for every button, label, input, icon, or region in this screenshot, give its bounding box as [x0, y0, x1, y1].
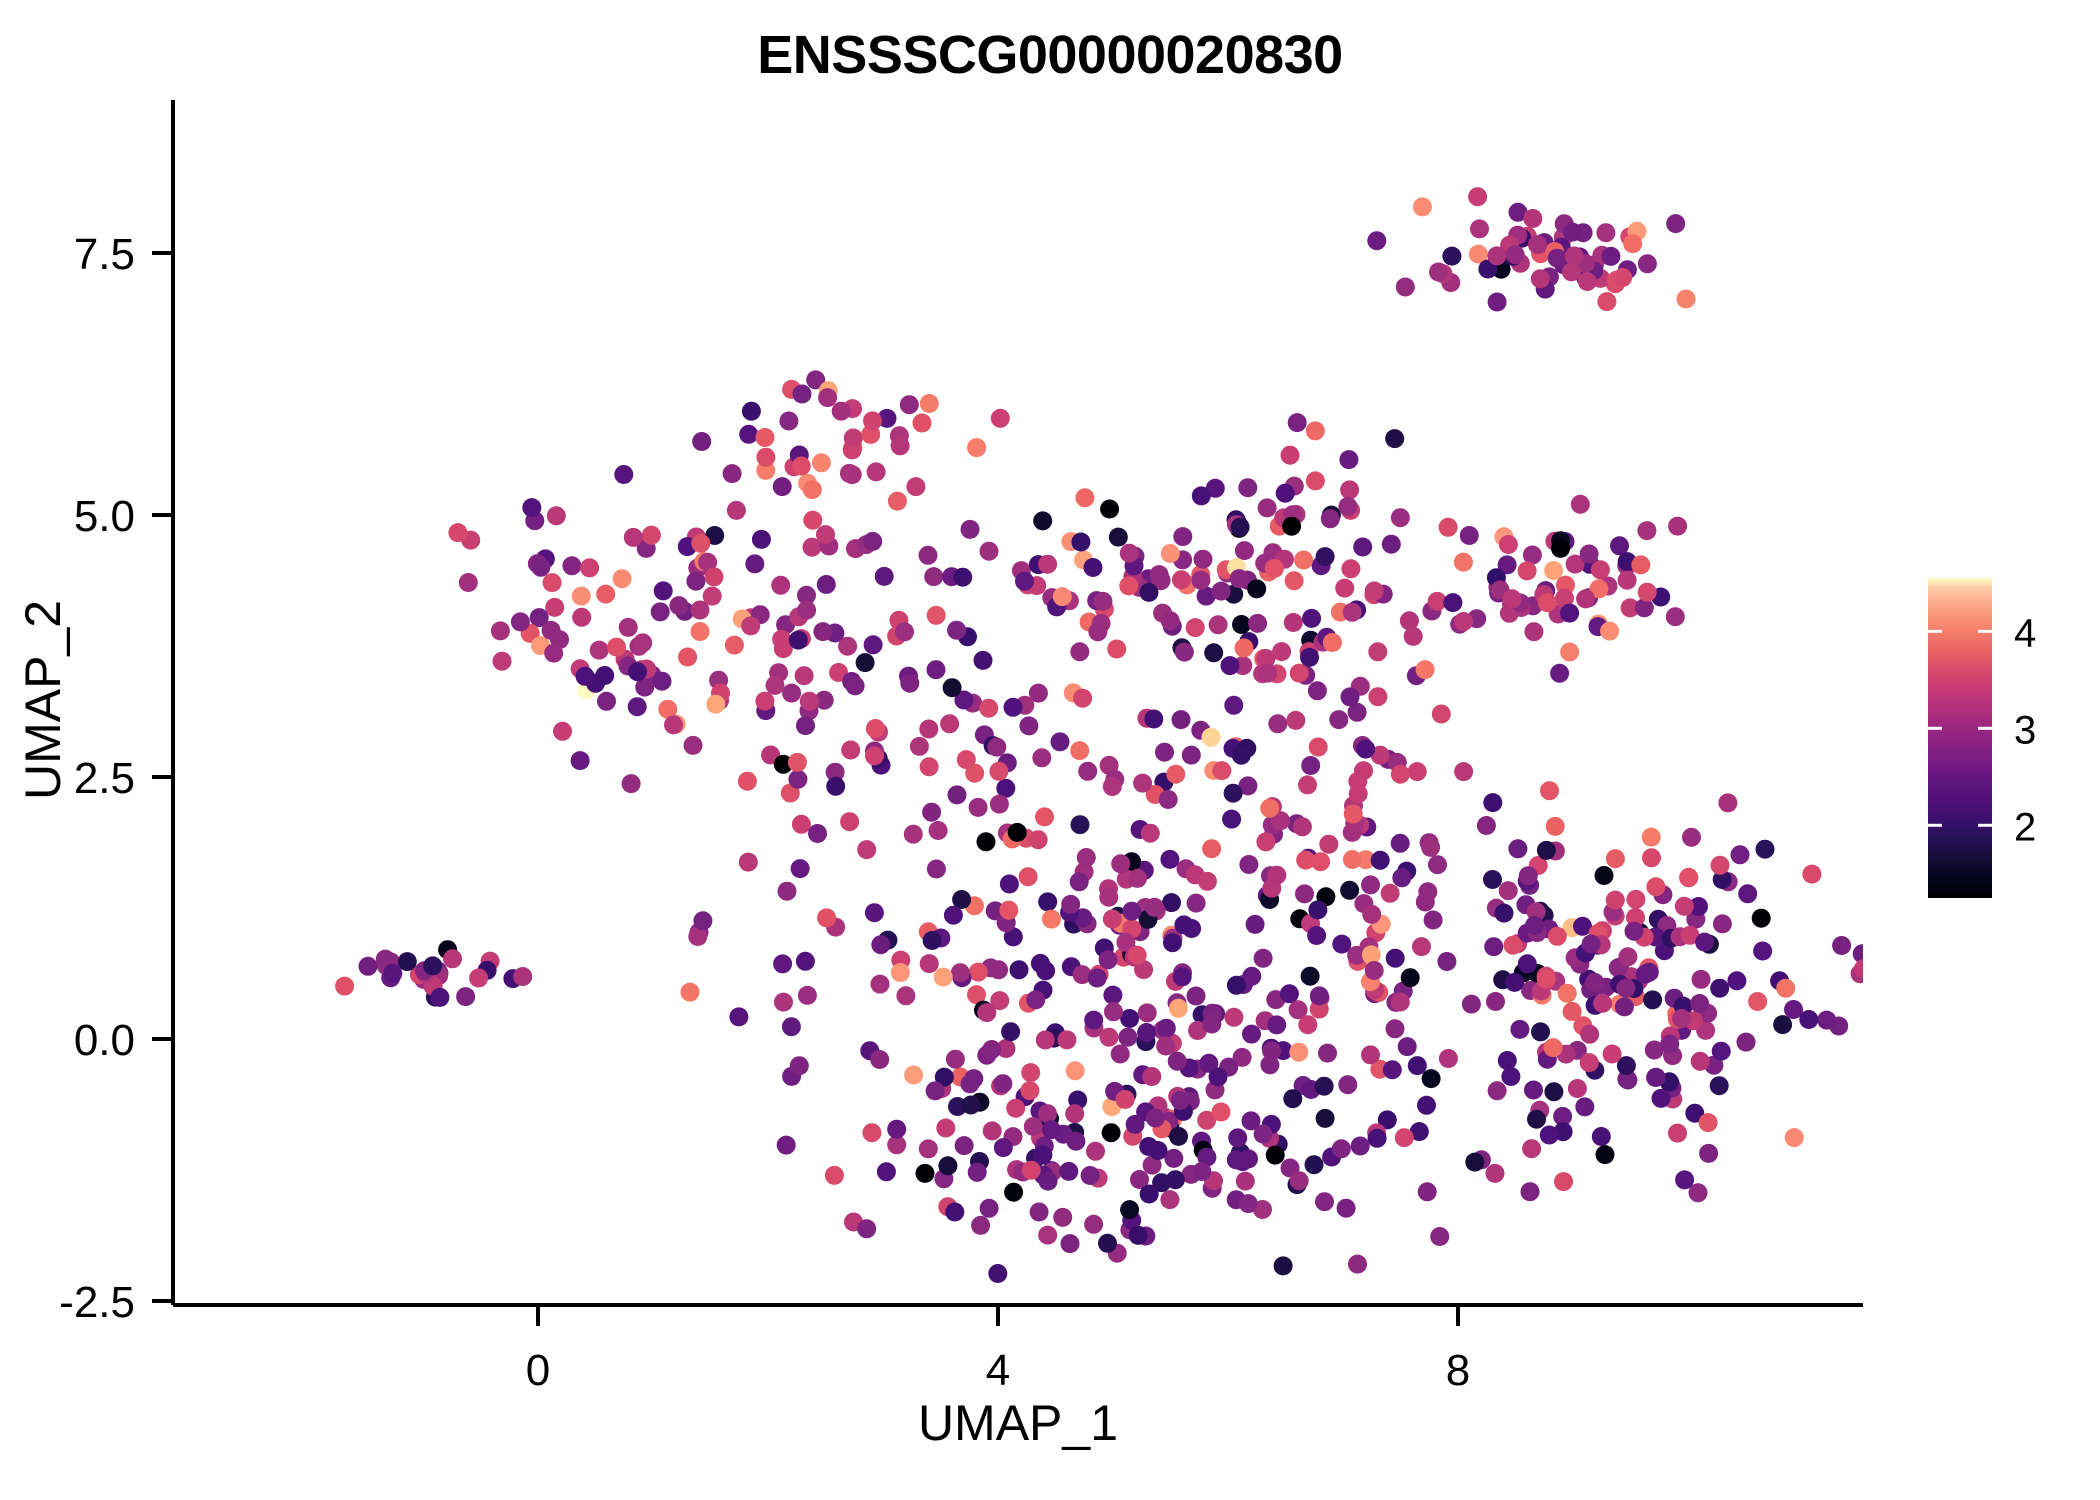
scatter-point — [803, 480, 822, 499]
scatter-point — [789, 631, 808, 650]
scatter-point — [826, 777, 845, 796]
scatter-point — [1615, 997, 1634, 1016]
scatter-point — [1332, 935, 1351, 954]
scatter-point — [1311, 852, 1330, 871]
scatter-point — [797, 601, 816, 620]
scatter-point — [692, 432, 711, 451]
scatter-point — [1519, 866, 1538, 885]
scatter-point — [1580, 1025, 1599, 1044]
scatter-point — [1580, 545, 1599, 564]
scatter-point — [513, 967, 532, 986]
scatter-point — [1099, 888, 1118, 907]
scatter-point — [969, 798, 988, 817]
scatter-point — [739, 853, 758, 872]
scatter-point — [1306, 421, 1325, 440]
scatter-point — [1022, 1161, 1041, 1180]
scatter-point — [1408, 1056, 1427, 1075]
scatter-point — [1544, 1038, 1563, 1057]
scatter-point — [705, 567, 724, 586]
scatter-point — [957, 750, 976, 769]
scatter-point — [895, 622, 914, 641]
scatter-point — [1266, 1146, 1285, 1165]
x-tick-label: 8 — [1446, 1346, 1470, 1395]
scatter-point — [1361, 875, 1380, 894]
scatter-point — [1618, 571, 1637, 590]
scatter-point — [920, 757, 939, 776]
scatter-point — [771, 576, 790, 595]
scatter-point — [1070, 741, 1089, 760]
scatter-point — [1006, 1099, 1025, 1118]
scatter-point — [1163, 933, 1182, 952]
scatter-point — [1538, 593, 1557, 612]
scatter-point — [1439, 518, 1458, 537]
scatter-point — [1088, 969, 1107, 988]
scatter-point — [1024, 1117, 1043, 1136]
scatter-point — [1544, 561, 1563, 580]
scatter-point — [951, 963, 970, 982]
scatter-point — [1161, 611, 1180, 630]
scatter-point — [1235, 541, 1254, 560]
scatter-point — [1643, 990, 1662, 1009]
colorbar-tick-label: 3 — [2014, 708, 2036, 752]
scatter-point — [511, 612, 530, 631]
scatter-point — [1571, 495, 1590, 514]
scatter-point — [1442, 247, 1461, 266]
colorbar-tick-label: 2 — [2014, 805, 2036, 849]
scatter-point — [1626, 890, 1645, 909]
scatter-point — [1020, 1081, 1039, 1100]
scatter-point — [818, 388, 837, 407]
scatter-point — [1169, 1127, 1188, 1146]
scatter-point — [1510, 1020, 1529, 1039]
scatter-point — [1548, 249, 1567, 268]
scatter-point — [1222, 810, 1241, 829]
scatter-point — [1283, 1089, 1302, 1108]
scatter-point — [742, 402, 761, 421]
scatter-point — [544, 644, 563, 663]
scatter-point — [1596, 223, 1615, 242]
scatter-point — [1120, 1200, 1139, 1219]
scatter-point — [1506, 245, 1525, 264]
scatter-point — [1221, 656, 1240, 675]
scatter-point — [1432, 705, 1451, 724]
scatter-point — [1212, 582, 1231, 601]
scatter-point — [1042, 910, 1061, 929]
scatter-point — [891, 436, 910, 455]
scatter-point — [1107, 640, 1126, 659]
scatter-point — [1776, 979, 1795, 998]
scatter-point — [456, 987, 475, 1006]
scatter-point — [1001, 1022, 1020, 1041]
scatter-point — [1418, 882, 1437, 901]
scatter-point — [808, 824, 827, 843]
colorbar-tick-label: 4 — [2014, 611, 2036, 655]
scatter-point — [1036, 961, 1055, 980]
scatter-point — [1752, 909, 1771, 928]
scatter-point — [923, 931, 942, 950]
scatter-point — [1465, 1153, 1484, 1172]
scatter-point — [633, 633, 652, 652]
scatter-point — [1737, 1033, 1756, 1052]
scatter-point — [738, 772, 757, 791]
scatter-point — [1531, 269, 1550, 288]
scatter-point — [1454, 612, 1473, 631]
scatter-point — [825, 1166, 844, 1185]
scatter-point — [1103, 910, 1122, 929]
scatter-point — [1424, 911, 1443, 930]
scatter-point — [1071, 815, 1090, 834]
scatter-point — [977, 832, 996, 851]
scatter-point — [940, 714, 959, 733]
scatter-point — [1738, 884, 1757, 903]
scatter-point — [1690, 994, 1709, 1013]
scatter-point — [1677, 290, 1696, 309]
scatter-point — [1302, 609, 1321, 628]
scatter-point — [1468, 187, 1487, 206]
scatter-point — [1606, 849, 1625, 868]
scatter-point — [727, 501, 746, 520]
scatter-point — [1501, 1067, 1520, 1086]
scatter-point — [678, 648, 697, 667]
scatter-point — [945, 1203, 964, 1222]
scatter-point — [1059, 1162, 1078, 1181]
scatter-point — [669, 596, 688, 615]
scatter-point — [974, 651, 993, 670]
scatter-point — [841, 741, 860, 760]
scatter-point — [1267, 1015, 1286, 1034]
scatter-point — [443, 949, 462, 968]
scatter-point — [1756, 840, 1775, 859]
scatter-point — [691, 534, 710, 553]
scatter-point — [1061, 895, 1080, 914]
scatter-point — [1488, 293, 1507, 312]
scatter-point — [1537, 970, 1556, 989]
scatter-point — [653, 672, 672, 691]
scatter-point — [684, 736, 703, 755]
scatter-point — [1236, 1172, 1255, 1191]
scatter-point — [1460, 526, 1479, 545]
scatter-point — [863, 411, 882, 430]
scatter-point — [1576, 589, 1595, 608]
scatter-point — [1035, 807, 1054, 826]
scatter-point — [654, 581, 673, 600]
scatter-point — [1495, 904, 1514, 923]
scatter-point — [1286, 711, 1305, 730]
scatter-point — [1061, 1234, 1080, 1253]
scatter-point — [929, 821, 948, 840]
scatter-point — [1340, 881, 1359, 900]
scatter-point — [1486, 992, 1505, 1011]
scatter-point — [904, 825, 923, 844]
y-tick-label: 2.5 — [74, 754, 135, 803]
scatter-point — [1613, 268, 1632, 287]
scatter-point — [1718, 793, 1737, 812]
scatter-point — [1563, 1002, 1582, 1021]
scatter-point — [1282, 517, 1301, 536]
scatter-point — [1209, 1067, 1228, 1086]
scatter-point — [1367, 231, 1386, 250]
scatter-point — [1638, 254, 1657, 273]
scatter-point — [955, 1136, 974, 1155]
scatter-point — [1202, 728, 1221, 747]
scatter-point — [1636, 965, 1655, 984]
scatter-point — [1315, 1077, 1334, 1096]
scatter-point — [1548, 927, 1567, 946]
scatter-point — [459, 573, 478, 592]
scatter-point — [980, 542, 999, 561]
scatter-point — [1521, 1182, 1540, 1201]
scatter-point — [1329, 710, 1348, 729]
scatter-point — [792, 815, 811, 834]
scatter-point — [968, 1163, 987, 1182]
scatter-point — [723, 464, 742, 483]
scatter-point — [1029, 830, 1048, 849]
scatter-point — [1349, 784, 1368, 803]
scatter-point — [1568, 1079, 1587, 1098]
scatter-point — [1551, 539, 1570, 558]
scatter-point — [934, 968, 953, 987]
scatter-point — [1318, 1044, 1337, 1063]
scatter-point — [1417, 1096, 1436, 1115]
y-tick-label: 7.5 — [74, 230, 135, 279]
scatter-point — [383, 964, 402, 983]
scatter-point — [1099, 950, 1118, 969]
scatter-point — [576, 667, 595, 686]
scatter-point — [1540, 1126, 1559, 1145]
scatter-point — [1503, 589, 1522, 608]
scatter-point — [1439, 1049, 1458, 1068]
scatter-point — [1066, 1061, 1085, 1080]
scatter-point — [1070, 872, 1089, 891]
scatter-point — [795, 666, 814, 685]
x-tick-label: 0 — [526, 1346, 550, 1395]
scatter-point — [1422, 1069, 1441, 1088]
scatter-point — [1341, 559, 1360, 578]
y-tick-label: -2.5 — [59, 1278, 135, 1327]
x-axis-title: UMAP_1 — [918, 1395, 1118, 1451]
scatter-point — [1699, 1144, 1718, 1163]
scatter-point — [900, 395, 919, 414]
scatter-point — [1488, 1081, 1507, 1100]
scatter-point — [1298, 1015, 1317, 1034]
scatter-point — [1204, 643, 1223, 662]
scatter-point — [1150, 565, 1169, 584]
scatter-point — [1081, 1166, 1100, 1185]
scatter-point — [1280, 984, 1299, 1003]
scatter-point — [1036, 1031, 1055, 1050]
scatter-point — [866, 719, 885, 738]
scatter-point — [1246, 915, 1265, 934]
scatter-point — [1254, 1125, 1273, 1144]
scatter-point — [1235, 639, 1254, 658]
scatter-point — [1073, 689, 1092, 708]
scatter-point — [1301, 756, 1320, 775]
scatter-point — [1593, 994, 1612, 1013]
scatter-point — [987, 738, 1006, 757]
scatter-point — [1310, 986, 1329, 1005]
scatter-point — [1540, 781, 1559, 800]
scatter-point — [1300, 648, 1319, 667]
scatter-point — [1224, 784, 1243, 803]
scatter-point — [686, 572, 705, 591]
scatter-point — [1198, 872, 1217, 891]
x-tick-label: 4 — [986, 1346, 1010, 1395]
scatter-point — [1483, 793, 1502, 812]
scatter-point — [1386, 1019, 1405, 1038]
scatter-point — [964, 1069, 983, 1088]
x-axis-ticks: 048 — [526, 1305, 1470, 1395]
scatter-point — [1111, 854, 1130, 873]
scatter-point — [1335, 579, 1354, 598]
scatter-point — [1527, 1110, 1546, 1129]
scatter-point — [1098, 1234, 1117, 1253]
scatter-point — [796, 716, 815, 735]
scatter-point — [1305, 1155, 1324, 1174]
scatter-point — [1854, 959, 1873, 978]
scatter-point — [1524, 622, 1543, 641]
scatter-point — [693, 911, 712, 930]
scatter-point — [983, 1121, 1002, 1140]
scatter-point — [1499, 535, 1518, 554]
scatter-point — [1505, 973, 1524, 992]
scatter-point — [1038, 1104, 1057, 1123]
scatter-point — [773, 477, 792, 496]
scatter-point — [1301, 967, 1320, 986]
scatter-point — [1361, 1045, 1380, 1064]
scatter-point — [1368, 687, 1387, 706]
scatter-point — [1119, 576, 1138, 595]
scatter-point — [1258, 498, 1277, 517]
scatter-point — [1362, 905, 1381, 924]
scatter-point — [1398, 1037, 1417, 1056]
scatter-point — [1138, 1003, 1157, 1022]
scatter-point — [1550, 664, 1569, 683]
scatter-point — [1666, 214, 1685, 233]
scatter-point — [865, 903, 884, 922]
scatter-point — [927, 860, 946, 879]
scatter-point — [756, 428, 775, 447]
scatter-point — [607, 638, 626, 657]
scatter-point — [1140, 583, 1159, 602]
scatter-point — [1642, 828, 1661, 847]
scatter-point — [1212, 1103, 1231, 1122]
scatter-point — [1293, 817, 1312, 836]
scatter-point — [1187, 987, 1206, 1006]
scatter-point — [1228, 1128, 1247, 1147]
scatter-point — [971, 1216, 990, 1235]
scatter-point — [1145, 898, 1164, 917]
scatter-point — [788, 770, 807, 789]
scatter-point — [1391, 993, 1410, 1012]
scatter-point — [1785, 1128, 1804, 1147]
scatter-point — [1039, 1172, 1058, 1191]
scatter-point — [1254, 949, 1273, 968]
scatter-point — [1699, 1113, 1718, 1132]
scatter-point — [1230, 569, 1249, 588]
scatter-point — [1395, 1128, 1414, 1147]
scatter-point — [1344, 805, 1363, 824]
scatter-point — [1084, 1215, 1103, 1234]
scatter-point — [1554, 1172, 1573, 1191]
scatter-point — [622, 774, 641, 793]
scatter-point — [1238, 478, 1257, 497]
scatter-point — [846, 676, 865, 695]
scatter-point — [1368, 642, 1387, 661]
scatter-point — [982, 1040, 1001, 1059]
scatter-point — [1623, 234, 1642, 253]
scatter-point — [1486, 1164, 1505, 1183]
scatter-point — [1239, 855, 1258, 874]
scatter-point — [1416, 660, 1435, 679]
scatter-point — [782, 684, 801, 703]
scatter-point — [779, 412, 798, 431]
scatter-point — [1386, 949, 1405, 968]
scatter-point — [1166, 765, 1185, 784]
scatter-point — [1371, 851, 1390, 870]
scatter-point — [1004, 698, 1023, 717]
scatter-point — [545, 598, 564, 617]
scatter-point — [572, 608, 591, 627]
scatter-point — [1396, 278, 1415, 297]
scatter-point — [1019, 716, 1038, 735]
scatter-point — [335, 977, 354, 996]
scatter-point — [1175, 643, 1194, 662]
scatter-point — [1483, 870, 1502, 889]
scatter-point — [1316, 1109, 1335, 1128]
scatter-point — [927, 660, 946, 679]
scatter-point — [1558, 984, 1577, 1003]
scatter-point — [1580, 1053, 1599, 1072]
scatter-point — [1592, 1127, 1611, 1146]
scatter-point — [1343, 850, 1362, 869]
scatter-point — [739, 425, 758, 444]
scatter-point — [1668, 517, 1687, 536]
scatter-point — [1381, 884, 1400, 903]
scatter-point — [1437, 952, 1456, 971]
scatter-point — [562, 556, 581, 575]
scatter-point — [1340, 480, 1359, 499]
scatter-point — [1015, 572, 1034, 591]
scatter-point — [1111, 1045, 1130, 1064]
scatter-point — [1487, 246, 1506, 265]
scatter-point — [844, 429, 863, 448]
scatter-point — [777, 1136, 796, 1155]
scatter-point — [1308, 900, 1327, 919]
scatter-point — [1600, 622, 1619, 641]
scatter-point — [813, 622, 832, 641]
scatter-point — [1546, 817, 1565, 836]
scatter-point — [832, 402, 851, 421]
scatter-point — [1731, 845, 1750, 864]
scatter-point — [1319, 835, 1338, 854]
scatter-point — [1522, 1139, 1541, 1158]
scatter-point — [1276, 484, 1295, 503]
scatter-point — [1585, 973, 1604, 992]
scatter-point — [1332, 1139, 1351, 1158]
scatter-point — [1323, 633, 1342, 652]
scatter-point — [1156, 1037, 1175, 1056]
scatter-point — [1404, 627, 1423, 646]
scatter-point — [613, 569, 632, 588]
scatter-point — [1169, 999, 1188, 1018]
scatter-point — [752, 530, 771, 549]
scatter-point — [1528, 235, 1547, 254]
scatter-point — [1565, 247, 1584, 266]
scatter-point — [1748, 992, 1767, 1011]
scatter-point — [547, 506, 566, 525]
scatter-point — [773, 954, 792, 973]
scatter-point — [788, 753, 807, 772]
